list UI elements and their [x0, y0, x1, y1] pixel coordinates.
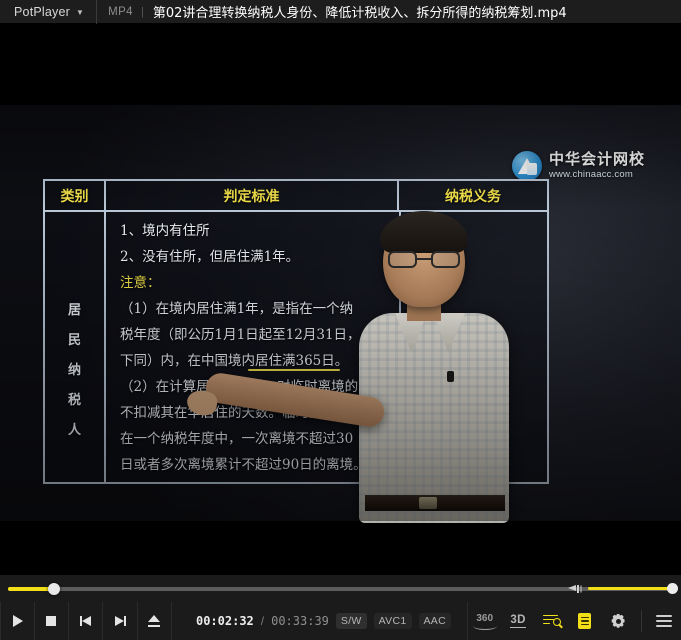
- playlist-icon: [578, 613, 591, 629]
- time-separator: /: [261, 614, 264, 628]
- table-cell-category-vertical: 居 民 纳 税 人: [45, 212, 106, 482]
- presenter-hair: [380, 211, 468, 253]
- playlist-button[interactable]: [568, 602, 601, 640]
- control-bar: 00:02:32 / 00:33:39 S/W AVC1 AAC 360 3D: [0, 575, 681, 640]
- play-icon: [10, 614, 24, 628]
- time-info-group: 00:02:32 / 00:33:39 S/W AVC1 AAC: [172, 602, 468, 640]
- volume-slider[interactable]: [588, 587, 673, 590]
- vertical-char: 民: [68, 329, 81, 348]
- vertical-char: 税: [68, 389, 81, 408]
- format-label: MP4: [97, 6, 141, 18]
- button-row: 00:02:32 / 00:33:39 S/W AVC1 AAC 360 3D: [0, 602, 681, 640]
- badge-sw[interactable]: S/W: [336, 613, 367, 629]
- settings-button[interactable]: [601, 602, 634, 640]
- volume-thumb[interactable]: [667, 583, 678, 594]
- presenter-microphone: [447, 371, 454, 382]
- seek-thumb[interactable]: [48, 583, 60, 595]
- video-surface[interactable]: 中华会计网校 www.chinaacc.com 类别 判定标准 纳税义务 居 民…: [0, 24, 681, 575]
- volume-fill: [588, 587, 673, 590]
- vr360-icon: 360: [473, 613, 497, 629]
- menu-button[interactable]: [648, 602, 681, 640]
- app-menu-button[interactable]: PotPlayer ▼: [0, 0, 96, 24]
- presenter-glasses: [388, 251, 460, 268]
- previous-icon: [79, 614, 93, 628]
- play-button[interactable]: [0, 602, 35, 640]
- badge-audio-codec[interactable]: AAC: [419, 613, 452, 629]
- vr360-arc: [473, 622, 497, 630]
- eject-icon: [147, 614, 161, 628]
- find-icon: [543, 614, 560, 629]
- vertical-char: 居: [68, 299, 81, 318]
- logo-text: 中华会计网校 www.chinaacc.com: [549, 152, 645, 181]
- find-button[interactable]: [535, 602, 568, 640]
- toolbar-divider: [641, 610, 642, 632]
- vr360-button[interactable]: 360: [468, 602, 501, 640]
- table-header-criteria: 判定标准: [106, 181, 399, 210]
- stop-icon: [44, 614, 58, 628]
- next-button[interactable]: [103, 602, 137, 640]
- mode3d-icon: 3D: [510, 614, 525, 628]
- logo-name-label: 中华会计网校: [549, 152, 645, 168]
- mode3d-button[interactable]: 3D: [501, 602, 534, 640]
- chevron-down-icon[interactable]: ▼: [76, 8, 84, 17]
- app-name-label: PotPlayer: [14, 5, 70, 19]
- previous-button[interactable]: [69, 602, 103, 640]
- total-time-label: 00:33:39: [271, 614, 329, 628]
- potplayer-window: PotPlayer ▼ MP4 | 第02讲合理转换纳税人身份、降低计税收入、拆…: [0, 0, 681, 640]
- speaker-icon[interactable]: [568, 582, 582, 595]
- volume-group: [568, 575, 673, 602]
- chinaacc-logo-icon: [512, 151, 542, 181]
- badge-video-codec[interactable]: AVC1: [374, 613, 412, 629]
- menu-icon: [656, 615, 672, 627]
- table-header-row: 类别 判定标准 纳税义务: [45, 181, 547, 212]
- video-picture: 中华会计网校 www.chinaacc.com 类别 判定标准 纳税义务 居 民…: [0, 105, 681, 521]
- stop-button[interactable]: [35, 602, 69, 640]
- vertical-char: 人: [68, 419, 81, 438]
- current-time-label: 00:02:32: [196, 614, 254, 628]
- seek-progress-fill: [8, 587, 54, 591]
- presenter-belt-buckle: [419, 497, 437, 509]
- gear-icon: [610, 613, 626, 629]
- eject-button[interactable]: [138, 602, 172, 640]
- table-header-category: 类别: [45, 181, 106, 210]
- vertical-char: 纳: [68, 359, 81, 378]
- next-icon: [113, 614, 127, 628]
- file-title-label: 第02讲合理转换纳税人身份、降低计税收入、拆分所得的纳税筹划.mp4: [144, 2, 567, 21]
- presenter-figure: [355, 215, 555, 521]
- title-bar: PotPlayer ▼ MP4 | 第02讲合理转换纳税人身份、降低计税收入、拆…: [0, 0, 681, 24]
- seek-row: [0, 575, 681, 602]
- table-header-obligation: 纳税义务: [399, 181, 547, 210]
- logo-url-label: www.chinaacc.com: [549, 170, 645, 180]
